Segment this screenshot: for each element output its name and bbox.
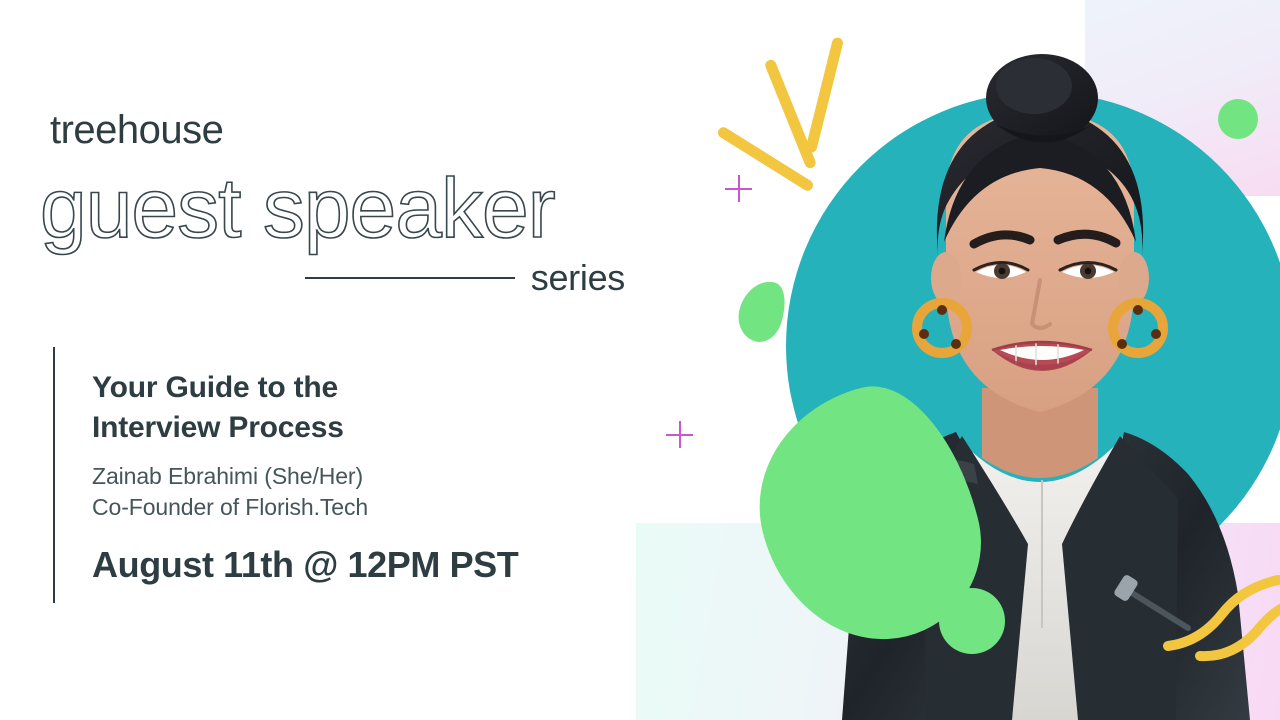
series-row: series — [305, 256, 625, 300]
page-title-outline: guest speaker — [40, 160, 555, 257]
info-accent-rule — [53, 347, 55, 603]
event-title: Your Guide to the Interview Process — [92, 368, 612, 447]
event-info-block: Your Guide to the Interview Process Zain… — [92, 368, 612, 586]
green-circle-shape — [939, 588, 1005, 654]
yellow-squiggle-mark — [1160, 570, 1280, 680]
plus-mark-icon — [725, 175, 752, 202]
plus-mark-icon — [666, 421, 693, 448]
series-divider-rule — [305, 277, 515, 279]
green-blob-shape — [731, 275, 792, 348]
brand-wordmark: treehouse — [50, 108, 223, 153]
slide-canvas: treehouse guest speaker series Your Guid… — [0, 0, 1280, 720]
event-title-line-1: Your Guide to the — [92, 371, 338, 404]
speaker-role: Co-Founder of Florish.Tech — [92, 494, 368, 520]
speaker-name: Zainab Ebrahimi (She/Her) — [92, 463, 363, 489]
green-circle-shape — [1218, 99, 1258, 139]
series-label: series — [531, 257, 625, 299]
event-speaker: Zainab Ebrahimi (She/Her) Co-Founder of … — [92, 461, 612, 524]
event-datetime: August 11th @ 12PM PST — [92, 544, 612, 586]
event-title-line-2: Interview Process — [92, 411, 344, 444]
